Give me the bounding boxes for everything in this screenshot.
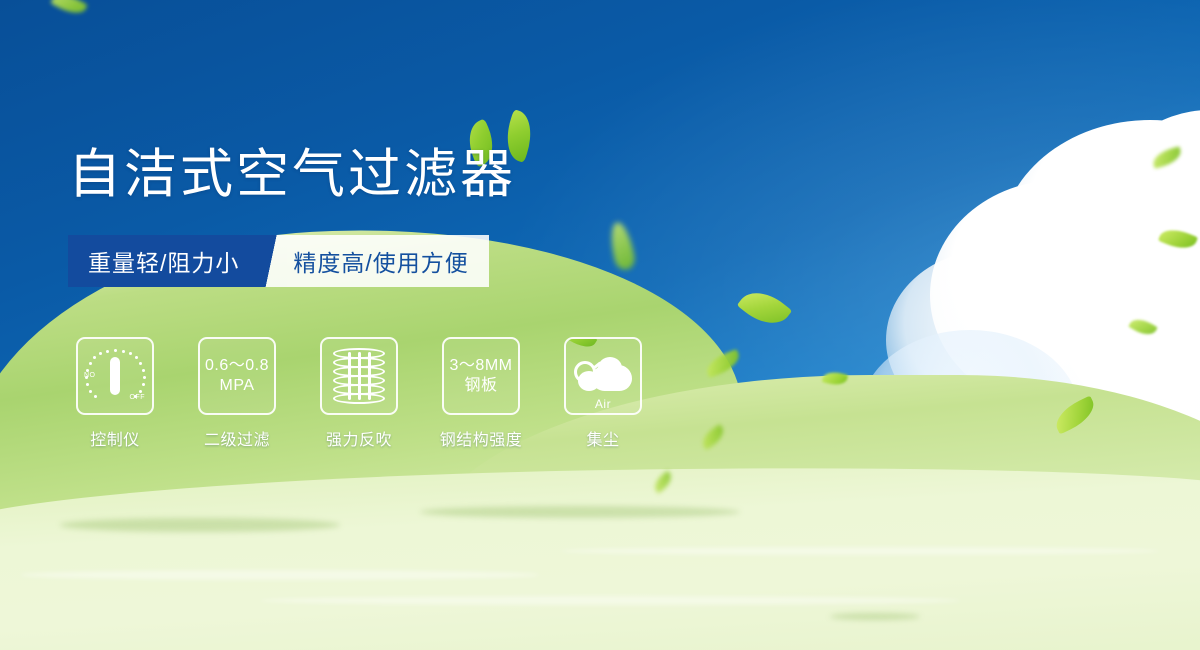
filter-coil-icon — [333, 348, 385, 404]
gauge-dial-icon: NO OFF — [84, 345, 146, 407]
feature-icon-box: 3～8MM 钢板 — [442, 337, 520, 415]
steel-thickness-line2: 钢板 — [464, 376, 497, 396]
steel-thickness-line1: 3～8MM — [450, 356, 513, 376]
pressure-value-line2: MPA — [220, 376, 255, 396]
feature-label: 强力反吹 — [326, 426, 392, 450]
feature-icon-box: Air — [564, 337, 642, 415]
gauge-label-off: OFF — [130, 394, 146, 401]
feature-item[interactable]: NO OFF 控制仪 — [76, 337, 154, 450]
pressure-value-line1: 0.6～0.8 — [205, 356, 269, 376]
subtitle-left: 重量轻/阻力小 — [68, 235, 261, 287]
feature-icon-box: 0.6～0.8 MPA — [198, 337, 276, 415]
subtitle-right: 精度高/使用方便 — [287, 235, 488, 287]
feature-item[interactable]: 0.6～0.8 MPA 二级过滤 — [198, 337, 276, 450]
subtitle-bar: 重量轻/阻力小 精度高/使用方便 — [68, 235, 489, 287]
leaf-icon — [564, 337, 598, 353]
product-hero-banner: 自洁式空气过滤器 重量轻/阻力小 精度高/使用方便 — [0, 0, 1200, 650]
feature-item[interactable]: Air 集尘 — [564, 337, 642, 450]
feature-label: 钢结构强度 — [440, 426, 523, 450]
feature-label: 二级过滤 — [204, 426, 270, 450]
feature-label: 集尘 — [586, 426, 619, 450]
feature-item[interactable]: 强力反吹 — [320, 337, 398, 450]
feature-list: NO OFF 控制仪 0.6～0.8 MPA 二级过滤 — [76, 337, 642, 450]
page-title: 自洁式空气过滤器 — [68, 144, 516, 206]
cloud-air-icon: Air — [572, 353, 634, 399]
feature-icon-box: NO OFF — [76, 337, 154, 415]
gauge-needle — [110, 357, 120, 395]
feature-icon-box — [320, 337, 398, 415]
feature-label: 控制仪 — [90, 426, 140, 450]
gauge-label-no: NO — [84, 372, 96, 379]
subtitle-divider — [261, 235, 287, 287]
cloud-caption: Air — [572, 397, 634, 411]
feature-item[interactable]: 3～8MM 钢板 钢结构强度 — [442, 337, 520, 450]
